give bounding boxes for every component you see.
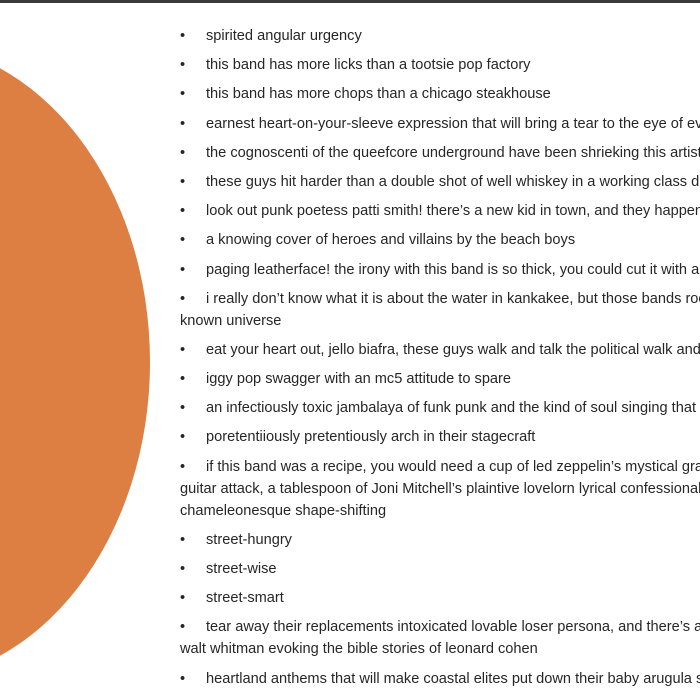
bullet-dot-icon: • [180,25,206,47]
bullet-dot-icon: • [180,54,206,76]
slide-title: n ing [0,173,164,525]
list-item: •these guys hit harder than a double sho… [180,171,700,193]
list-item-text: iggy pop swagger with an mc5 attitude to… [206,371,511,387]
list-item: •earnest heart-on-your-sleeve expression… [180,113,700,135]
bullet-dot-icon: • [180,668,206,690]
presentation-slide: n ing •spirited angular urgency•this ban… [0,0,700,700]
list-item-text: look out punk poetess patti smith! there… [206,203,700,219]
bullet-dot-icon: • [180,587,206,609]
bullet-dot-icon: • [180,397,206,419]
bullet-dot-icon: • [180,171,206,193]
list-item: •look out punk poetess patti smith! ther… [180,200,700,222]
bullet-dot-icon: • [180,339,206,361]
list-item-text: spirited angular urgency [206,28,362,44]
list-item-text: an infectiously toxic jambalaya of funk … [206,400,700,416]
bullet-dot-icon: • [180,259,206,281]
list-item-text: poretentiiously pretentiously arch in th… [206,429,535,445]
list-item: •paging leatherface! the irony with this… [180,259,700,281]
list-item: •the cognoscenti of the queefcore underg… [180,142,700,164]
bullet-dot-icon: • [180,368,206,390]
bullet-dot-icon: • [180,288,206,310]
bullet-dot-icon: • [180,142,206,164]
list-item-text: tear away their replacements intoxicated… [180,619,700,657]
list-item: •poretentiiously pretentiously arch in t… [180,426,700,448]
bullet-dot-icon: • [180,558,206,580]
slide-title-line-2: ing [0,349,164,525]
list-item: •an infectiously toxic jambalaya of funk… [180,397,700,419]
bullet-dot-icon: • [180,83,206,105]
list-item-text: eat your heart out, jello biafra, these … [206,342,700,358]
bullet-list: •spirited angular urgency•this band has … [180,25,700,700]
list-item: •i really don’t know what it is about th… [180,288,700,332]
list-item-text: street-smart [206,590,284,606]
list-item-text: this band has more licks than a tootsie … [206,57,530,73]
list-item-text: these guys hit harder than a double shot… [206,174,700,190]
bullet-dot-icon: • [180,229,206,251]
list-item-text: heartland anthems that will make coastal… [206,671,700,687]
bullet-dot-icon: • [180,616,206,638]
bullet-dot-icon: • [180,200,206,222]
list-item-text: paging leatherface! the irony with this … [206,262,700,278]
list-item-text: a knowing cover of heroes and villains b… [206,232,575,248]
slide-title-line-1: n [0,173,164,349]
list-item: •heartland anthems that will make coasta… [180,668,700,690]
list-item: •iggy pop swagger with an mc5 attitude t… [180,368,700,390]
list-item-text: street-hungry [206,532,292,548]
list-item: •this band has more licks than a tootsie… [180,54,700,76]
list-item: •street-smart [180,587,700,609]
bullet-dot-icon: • [180,456,206,478]
list-item-text: earnest heart-on-your-sleeve expression … [206,116,700,132]
list-item-text: the cognoscenti of the queefcore undergr… [206,145,700,161]
bullet-dot-icon: • [180,529,206,551]
bullet-dot-icon: • [180,426,206,448]
list-item-text: i really don’t know what it is about the… [180,291,700,329]
list-item: •spirited angular urgency [180,25,700,47]
list-item: •tear away their replacements intoxicate… [180,616,700,660]
list-item: •if this band was a recipe, you would ne… [180,456,700,522]
list-item: •street-wise [180,558,700,580]
list-item: •a knowing cover of heroes and villains … [180,229,700,251]
list-item: •street-hungry [180,529,700,551]
list-item-text: if this band was a recipe, you would nee… [180,459,700,519]
list-item-text: this band has more chops than a chicago … [206,86,551,102]
list-item-text: street-wise [206,561,277,577]
list-item: •eat your heart out, jello biafra, these… [180,339,700,361]
bullet-dot-icon: • [180,113,206,135]
list-item: •this band has more chops than a chicago… [180,83,700,105]
